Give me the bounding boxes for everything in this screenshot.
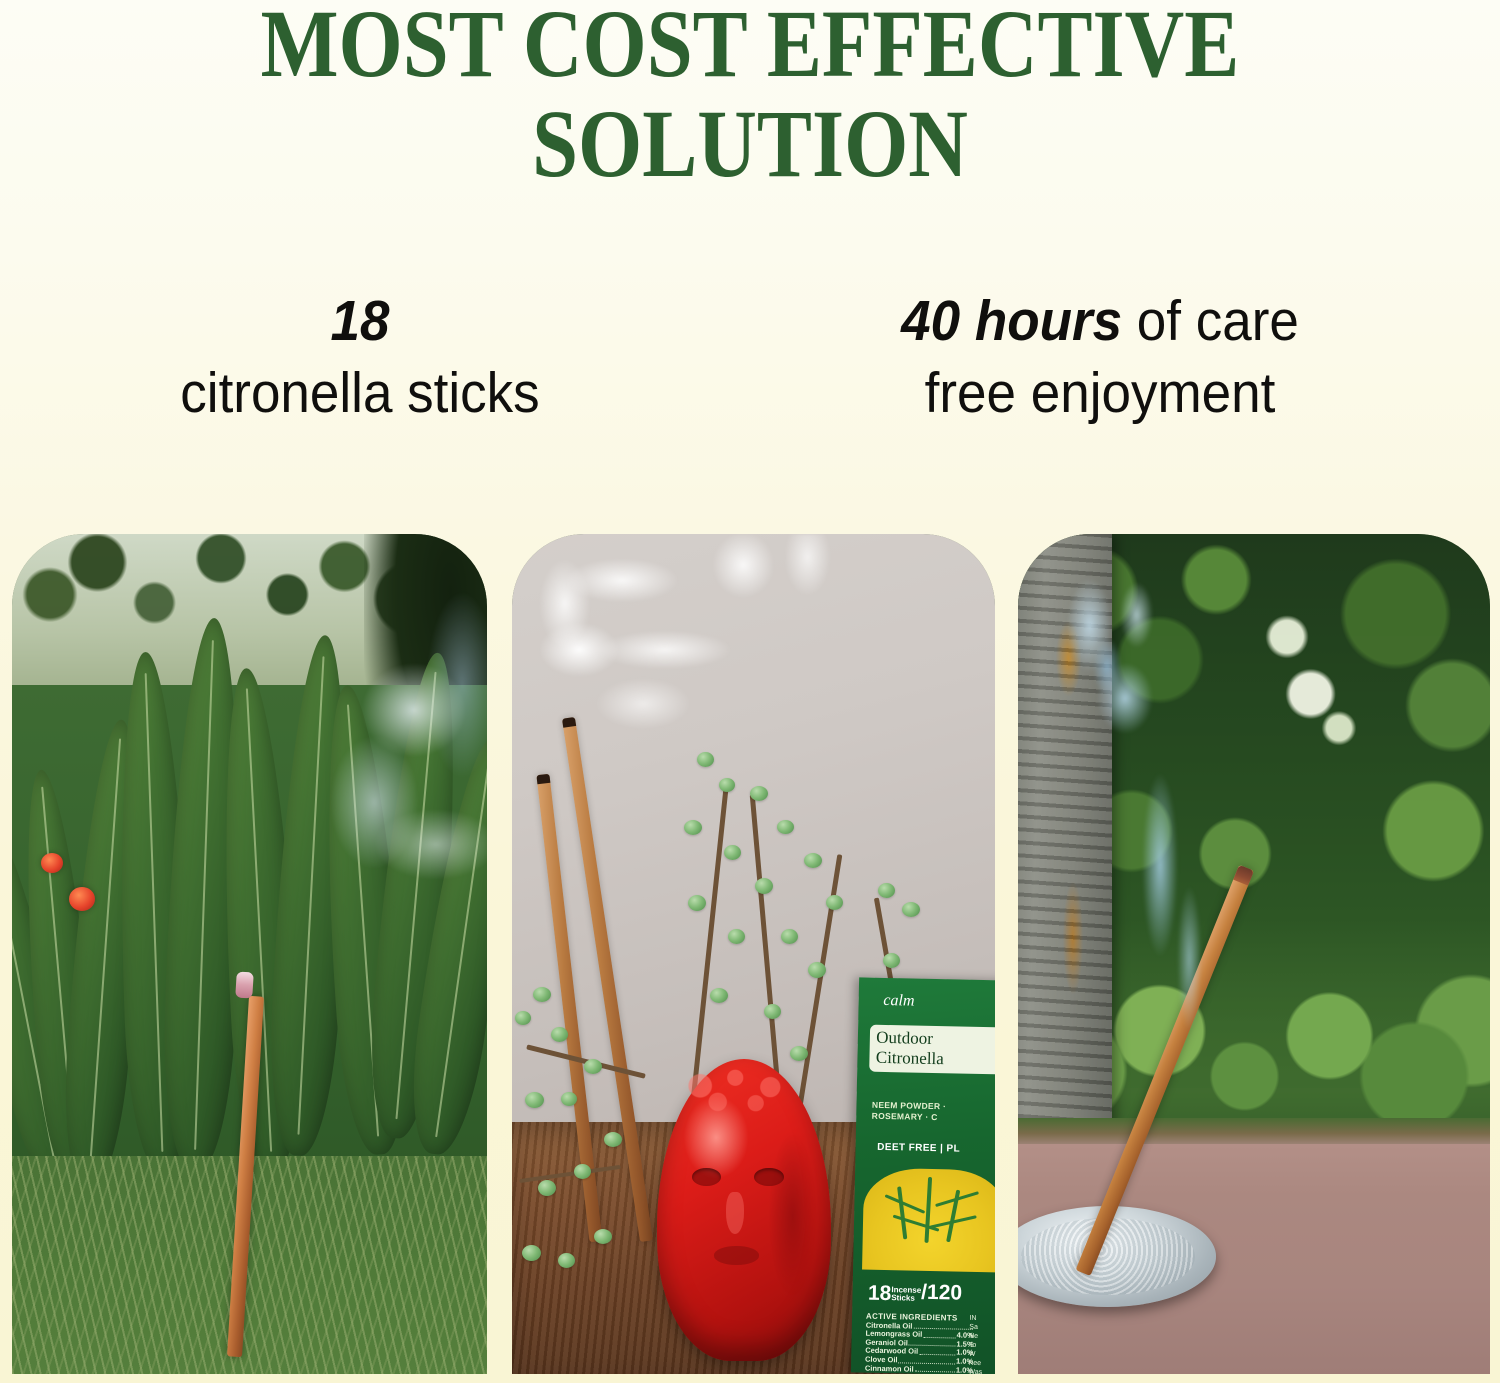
buddha-eye-left bbox=[692, 1168, 722, 1186]
smoke-plume bbox=[1037, 542, 1330, 1063]
plant-branch bbox=[797, 854, 843, 1112]
label-secondary-column: IN Sa Ne To W Kee Was Sto bbox=[968, 1314, 995, 1374]
garden-leaves-scene bbox=[12, 534, 487, 1374]
jade-leaf bbox=[551, 1027, 568, 1042]
buddha-planter-scene: calm Outdoor Citronella NEEM POWDER · RO… bbox=[512, 534, 995, 1374]
jade-leaf bbox=[558, 1253, 575, 1268]
equation-left-quantity: 18 bbox=[81, 285, 639, 357]
incense-stick-ash-tip bbox=[235, 972, 254, 999]
buddha-nose bbox=[726, 1192, 743, 1234]
equation-right-line-1: 40 hours of care bbox=[784, 285, 1416, 357]
jade-leaf bbox=[533, 987, 551, 1002]
product-name-box: Outdoor Citronella bbox=[869, 1025, 995, 1075]
photo-panel-row: calm Outdoor Citronella NEEM POWDER · RO… bbox=[0, 534, 1500, 1374]
jade-leaf bbox=[878, 883, 895, 898]
ingredient-leader bbox=[919, 1354, 955, 1356]
active-ingredients-list: ACTIVE INGREDIENTS Citronella Oil Lemong… bbox=[864, 1311, 974, 1374]
jade-leaf bbox=[538, 1180, 556, 1196]
stick-count-secondary: 120 bbox=[927, 1281, 963, 1305]
jade-leaf bbox=[710, 988, 728, 1003]
jade-leaf bbox=[515, 1011, 531, 1025]
ingredient-leader bbox=[923, 1337, 955, 1339]
jade-leaf bbox=[804, 853, 822, 868]
jade-leaf bbox=[826, 895, 843, 910]
ingredient-leader bbox=[914, 1371, 954, 1373]
deet-free-claim: DEET FREE | PL bbox=[877, 1142, 995, 1156]
photo-panel-garden-leaves bbox=[12, 534, 487, 1374]
herb-illustration bbox=[862, 1167, 995, 1273]
jade-leaf bbox=[728, 929, 745, 944]
red-buddha-head-planter bbox=[657, 1059, 831, 1361]
jade-leaf bbox=[902, 902, 920, 917]
stick-count-unit: IncenseSticks bbox=[891, 1286, 921, 1303]
equation-right-suffix: of care bbox=[1122, 289, 1299, 353]
stick-count-number: 18 bbox=[868, 1282, 892, 1305]
brand-name: calm bbox=[883, 992, 995, 1013]
herb-sprig bbox=[892, 1215, 939, 1232]
jade-leaf bbox=[883, 953, 900, 968]
product-pack-label: calm Outdoor Citronella NEEM POWDER · RO… bbox=[851, 978, 995, 1374]
jade-leaf bbox=[697, 752, 714, 767]
jade-leaf bbox=[584, 1059, 602, 1074]
equation-left-side: 18 citronella sticks bbox=[81, 285, 639, 429]
botanicals-line-2: ROSEMARY · C bbox=[872, 1111, 995, 1125]
jade-leaf bbox=[764, 1004, 781, 1019]
jade-leaf bbox=[604, 1132, 622, 1147]
jade-leaf bbox=[719, 778, 735, 792]
herb-sprig bbox=[924, 1177, 932, 1243]
jade-leaf bbox=[777, 820, 794, 834]
product-infographic-page: MOST COST EFFECTIVE SOLUTION 18 citronel… bbox=[0, 0, 1500, 1383]
jade-leaf bbox=[755, 878, 773, 894]
jade-plant bbox=[512, 971, 676, 1374]
jade-leaf bbox=[561, 1092, 577, 1106]
jade-leaf bbox=[750, 786, 768, 801]
jade-leaf bbox=[808, 962, 826, 978]
product-name-line-2: Citronella bbox=[876, 1048, 995, 1071]
jade-leaf bbox=[684, 820, 702, 835]
stick-count-callout: 18IncenseSticks/120 bbox=[868, 1280, 995, 1309]
photo-panel-buddha-planter: calm Outdoor Citronella NEEM POWDER · RO… bbox=[512, 534, 995, 1374]
equation-left-unit: citronella sticks bbox=[81, 357, 639, 429]
jade-leaf bbox=[688, 895, 706, 911]
red-flower bbox=[41, 853, 63, 873]
incense-stick-burnt-tip bbox=[562, 717, 576, 728]
stick-count-unit-line-2: Sticks bbox=[891, 1293, 915, 1302]
equation-right-side: 40 hours of care free enjoyment bbox=[784, 285, 1416, 429]
incense-stick-burnt-tip bbox=[537, 774, 551, 784]
red-flower bbox=[69, 887, 95, 911]
smoke-plume bbox=[278, 584, 487, 1004]
botanicals-callout: NEEM POWDER · ROSEMARY · C bbox=[872, 1100, 995, 1125]
plant-branch bbox=[519, 1165, 620, 1183]
herb-sprig bbox=[897, 1187, 907, 1240]
page-headline: MOST COST EFFECTIVE SOLUTION bbox=[105, 0, 1395, 194]
jade-leaf bbox=[525, 1092, 544, 1108]
jade-leaf bbox=[574, 1164, 591, 1179]
value-equation: 18 citronella sticks 40 hours of care fr… bbox=[0, 285, 1500, 435]
headline-line-2: SOLUTION bbox=[105, 94, 1395, 194]
jade-leaf bbox=[522, 1245, 541, 1261]
jade-leaf bbox=[781, 929, 798, 944]
buddha-mouth bbox=[714, 1246, 759, 1264]
buddha-eye-right bbox=[754, 1168, 784, 1186]
jade-leaf bbox=[594, 1229, 612, 1244]
equation-right-line-2: free enjoyment bbox=[784, 357, 1416, 429]
jade-leaf bbox=[724, 845, 741, 860]
headline-line-1: MOST COST EFFECTIVE bbox=[105, 0, 1395, 94]
photo-panel-outdoor-dish bbox=[1018, 534, 1490, 1374]
outdoor-dish-scene bbox=[1018, 534, 1490, 1374]
secondary-column-line: Was bbox=[968, 1368, 995, 1374]
herb-sprig bbox=[885, 1195, 925, 1215]
equation-right-quantity: 40 hours bbox=[901, 289, 1122, 353]
